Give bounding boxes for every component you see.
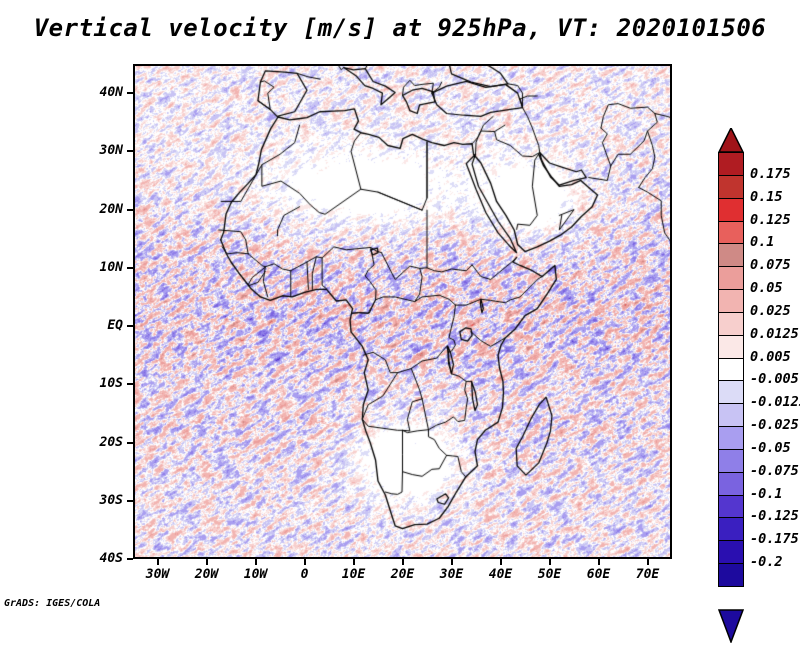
lon-tick xyxy=(598,559,600,565)
colorbar-segment[interactable] xyxy=(718,266,744,290)
colorbar-label: -0.05 xyxy=(750,440,791,456)
colorbar-segment[interactable] xyxy=(718,198,744,222)
lat-label: 40N xyxy=(63,85,123,100)
lat-tick xyxy=(127,150,133,152)
colorbar-segment[interactable] xyxy=(718,517,744,541)
lat-label: 20N xyxy=(63,202,123,217)
lat-label: 30N xyxy=(63,143,123,158)
lon-tick xyxy=(500,559,502,565)
colorbar-segment[interactable] xyxy=(718,472,744,496)
colorbar-segment[interactable] xyxy=(718,289,744,313)
colorbar-label: 0.15 xyxy=(750,189,783,205)
lon-tick xyxy=(206,559,208,565)
lat-label: 40S xyxy=(63,551,123,566)
colorbar-label: -0.075 xyxy=(750,463,799,479)
colorbar-label: 0.075 xyxy=(750,257,791,273)
lat-label: 20S xyxy=(63,435,123,450)
colorbar-label: 0.0125 xyxy=(750,326,799,342)
lat-tick xyxy=(127,442,133,444)
colorbar-top-arrow xyxy=(718,128,744,152)
colorbar-bottom-arrow xyxy=(718,609,744,643)
colorbar-segment[interactable] xyxy=(718,563,744,587)
lon-label: 70E xyxy=(618,567,678,582)
map-plot-area[interactable] xyxy=(133,64,672,559)
colorbar-segment[interactable] xyxy=(718,449,744,473)
lon-tick xyxy=(451,559,453,565)
lon-tick xyxy=(647,559,649,565)
colorbar-segment[interactable] xyxy=(718,495,744,519)
lat-label: 10S xyxy=(63,376,123,391)
colorbar-label: 0.125 xyxy=(750,212,791,228)
lat-label: EQ xyxy=(63,318,123,333)
lat-label: 10N xyxy=(63,260,123,275)
colorbar-segment[interactable] xyxy=(718,540,744,564)
lon-tick xyxy=(157,559,159,565)
colorbar-label: -0.025 xyxy=(750,417,799,433)
colorbar-segment[interactable] xyxy=(718,335,744,359)
footer-credit: GrADS: IGES/COLA xyxy=(4,598,100,609)
colorbar-segment[interactable] xyxy=(718,221,744,245)
colorbar-label: 0.175 xyxy=(750,166,791,182)
colorbar-segment[interactable] xyxy=(718,312,744,336)
lon-tick xyxy=(255,559,257,565)
lat-label: 30S xyxy=(63,493,123,508)
colorbar-label: 0.005 xyxy=(750,349,791,365)
lon-tick xyxy=(549,559,551,565)
colorbar-label: -0.0125 xyxy=(750,394,800,410)
colorbar[interactable]: 0.1750.150.1250.10.0750.050.0250.01250.0… xyxy=(718,64,746,555)
vertical-velocity-heatmap xyxy=(133,64,672,559)
grads-figure: Vertical velocity [m/s] at 925hPa, VT: 2… xyxy=(0,0,800,618)
colorbar-segment[interactable] xyxy=(718,380,744,404)
lat-tick xyxy=(127,325,133,327)
colorbar-label: -0.175 xyxy=(750,531,799,547)
colorbar-segment[interactable] xyxy=(718,426,744,450)
page-title: Vertical velocity [m/s] at 925hPa, VT: 2… xyxy=(0,14,800,42)
lat-tick xyxy=(127,92,133,94)
colorbar-segment[interactable] xyxy=(718,358,744,382)
colorbar-label: 0.1 xyxy=(750,234,774,250)
colorbar-label: -0.1 xyxy=(750,486,783,502)
colorbar-segment[interactable] xyxy=(718,403,744,427)
lon-tick xyxy=(304,559,306,565)
lat-tick xyxy=(127,558,133,560)
colorbar-segment[interactable] xyxy=(718,175,744,199)
colorbar-label: -0.2 xyxy=(750,554,783,570)
lon-tick xyxy=(353,559,355,565)
colorbar-segment[interactable] xyxy=(718,152,744,176)
lat-tick xyxy=(127,267,133,269)
lat-tick xyxy=(127,383,133,385)
lon-tick xyxy=(402,559,404,565)
colorbar-segment[interactable] xyxy=(718,243,744,267)
colorbar-label: -0.125 xyxy=(750,508,799,524)
colorbar-label: 0.05 xyxy=(750,280,783,296)
colorbar-label: 0.025 xyxy=(750,303,791,319)
colorbar-label: -0.005 xyxy=(750,371,799,387)
lat-tick xyxy=(127,500,133,502)
lat-tick xyxy=(127,209,133,211)
